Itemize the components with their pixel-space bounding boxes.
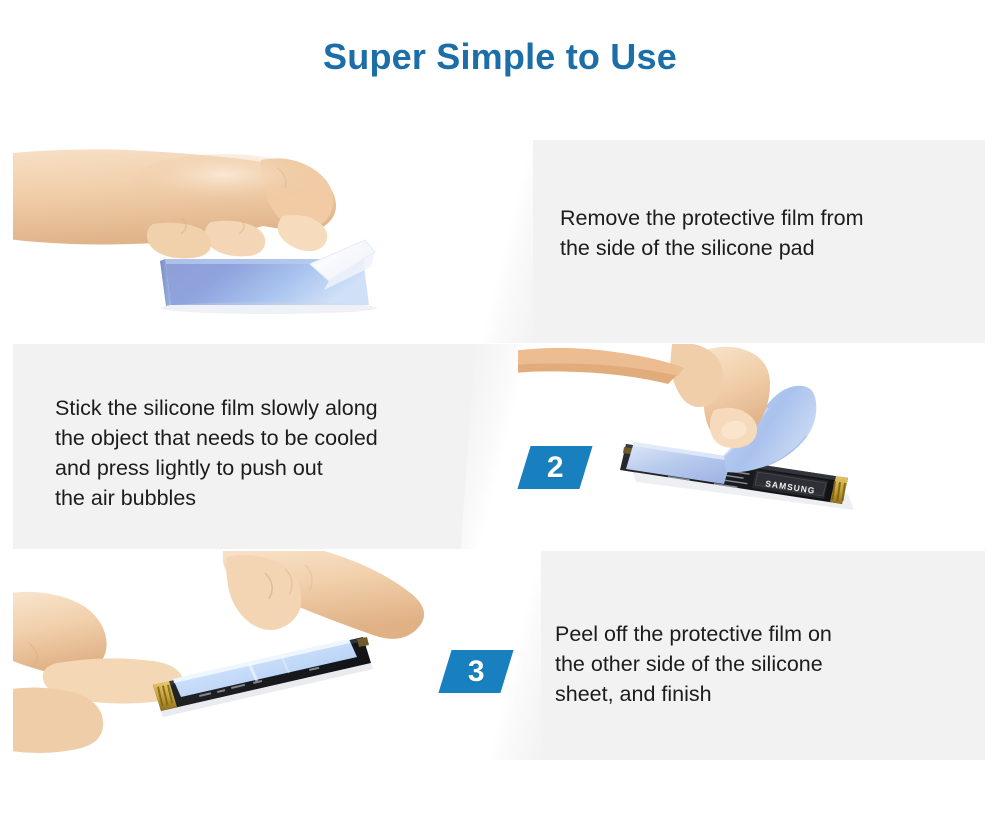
photo-hand-peeling-film xyxy=(13,140,513,343)
step-badge-3-number: 3 xyxy=(468,657,485,687)
step-badge-2-number: 2 xyxy=(547,453,564,483)
step-1-photo-area xyxy=(13,140,513,343)
step-1-description: Remove the protective film from the side… xyxy=(560,203,980,263)
step-badge-3: 3 xyxy=(438,650,513,693)
step-panel-1: 1 Remove the protective film from the si… xyxy=(13,140,985,343)
step-2-description: Stick the silicone film slowly along the… xyxy=(55,393,485,513)
photo-hands-holding-finished-ssd xyxy=(13,551,513,760)
step-panel-2: SAMSUNG xyxy=(13,344,985,549)
step-panel-3: 3 Peel off the protective film on the ot… xyxy=(13,551,985,760)
infographic-page: Super Simple to Use xyxy=(0,0,1000,815)
step-3-description: Peel off the protective film on the othe… xyxy=(555,619,975,709)
page-title: Super Simple to Use xyxy=(0,36,1000,78)
step-3-photo-area xyxy=(13,551,513,760)
step-badge-2: 2 xyxy=(517,446,592,489)
